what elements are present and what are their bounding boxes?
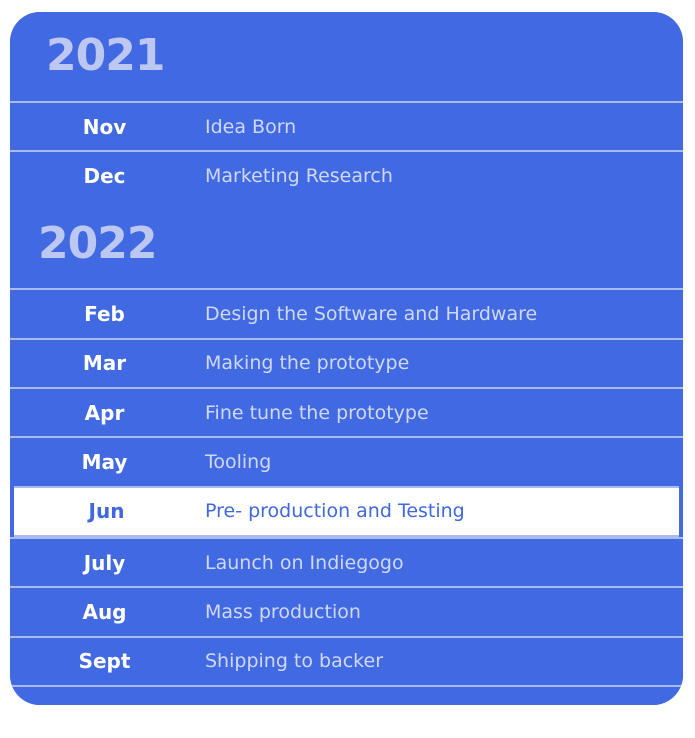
month-label: Dec (10, 164, 205, 188)
month-label: Jun (14, 499, 205, 523)
roadmap-card: 2021NovIdea BornDecMarketing Research202… (10, 12, 683, 705)
month-label: Sept (10, 649, 205, 673)
milestone-description: Fine tune the prototype (205, 402, 683, 424)
year-header-2021: 2021 (10, 12, 683, 101)
milestone-description: Mass production (205, 601, 683, 623)
milestone-description: Pre- production and Testing (205, 500, 679, 522)
month-label: May (10, 450, 205, 474)
milestone-description: Idea Born (205, 116, 683, 138)
year-header-2022: 2022 (10, 200, 683, 289)
timeline-row[interactable]: MayTooling (10, 436, 683, 485)
timeline-row[interactable]: MarMaking the prototype (10, 338, 683, 387)
month-label: July (10, 551, 205, 575)
timeline-row[interactable]: DecMarketing Research (10, 150, 683, 199)
timeline-row[interactable]: JulyLaunch on Indiegogo (10, 537, 683, 586)
month-label: Apr (10, 401, 205, 425)
milestone-description: Shipping to backer (205, 650, 683, 672)
month-label: Nov (10, 115, 205, 139)
milestone-description: Launch on Indiegogo (205, 552, 683, 574)
month-label: Aug (10, 600, 205, 624)
timeline-row[interactable]: SeptShipping to backer (10, 636, 683, 685)
milestone-description: Design the Software and Hardware (205, 303, 683, 325)
year-label: 2022 (38, 222, 156, 266)
timeline-row-current[interactable]: JunPre- production and Testing (14, 486, 679, 537)
month-label: Mar (10, 351, 205, 375)
milestone-description: Tooling (205, 451, 683, 473)
timeline-row[interactable]: NovIdea Born (10, 101, 683, 150)
timeline-row[interactable]: AugMass production (10, 586, 683, 635)
year-label: 2021 (46, 34, 164, 78)
milestone-description: Making the prototype (205, 352, 683, 374)
timeline-row[interactable]: AprFine tune the prototype (10, 387, 683, 436)
milestone-description: Marketing Research (205, 165, 683, 187)
timeline-row[interactable]: FebDesign the Software and Hardware (10, 288, 683, 337)
card-bottom-strip (10, 685, 683, 705)
month-label: Feb (10, 302, 205, 326)
timeline-rows: 2021NovIdea BornDecMarketing Research202… (10, 12, 683, 705)
